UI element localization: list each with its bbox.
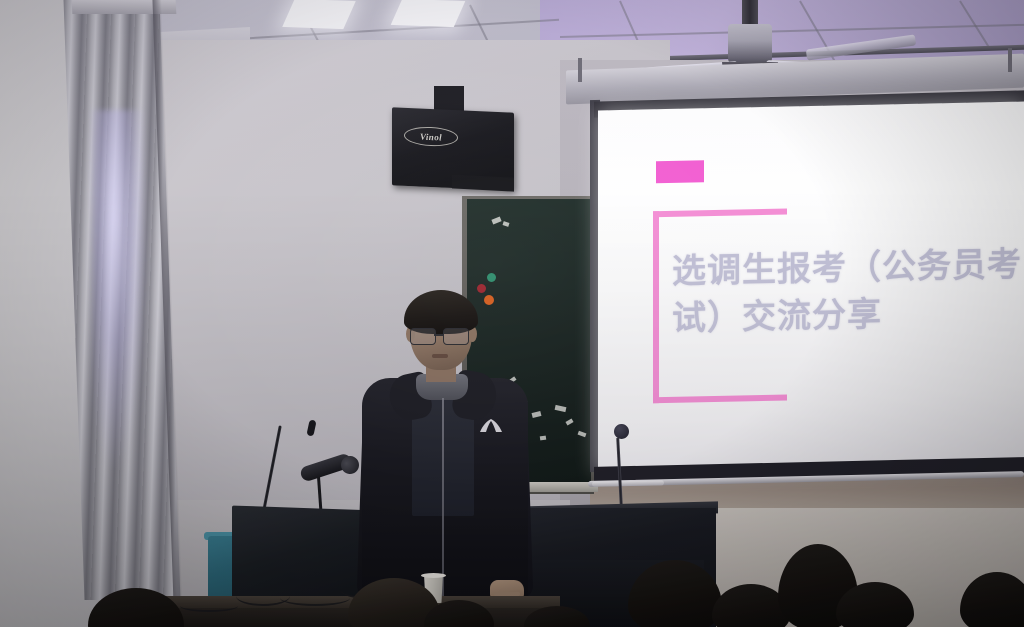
photo-scene: Vinol 选调生报考（公务员考试）交流分享 <box>0 0 1024 627</box>
ceiling-light-panel <box>391 0 466 27</box>
speaker-logo: Vinol <box>404 126 458 147</box>
screen-mount-hook <box>1008 48 1012 72</box>
blackboard-magnet-green <box>487 273 496 282</box>
fan-motor-housing <box>728 24 772 66</box>
lectern-microphone-head[interactable] <box>614 424 629 439</box>
desk-cable <box>180 600 238 612</box>
projection-screen: 选调生报考（公务员考试）交流分享 <box>598 102 1024 473</box>
eyeglasses-lens-right <box>443 328 469 345</box>
presenter-mouth <box>432 354 448 358</box>
paper-cup-rim <box>421 573 446 578</box>
blackboard-paper-scrap <box>540 436 546 441</box>
screen-mount-hook <box>578 58 582 82</box>
north-face-logo-icon <box>478 418 504 434</box>
desk-cable <box>280 590 350 606</box>
eyeglasses-lens-left <box>410 328 436 345</box>
slide-title-text: 选调生报考（公务员考试）交流分享 <box>672 241 1024 342</box>
ceiling-light-panel <box>282 0 356 29</box>
slide-accent-rectangle <box>656 160 704 183</box>
eyeglasses-bridge <box>434 334 443 336</box>
curtain-light-glow <box>92 110 148 470</box>
